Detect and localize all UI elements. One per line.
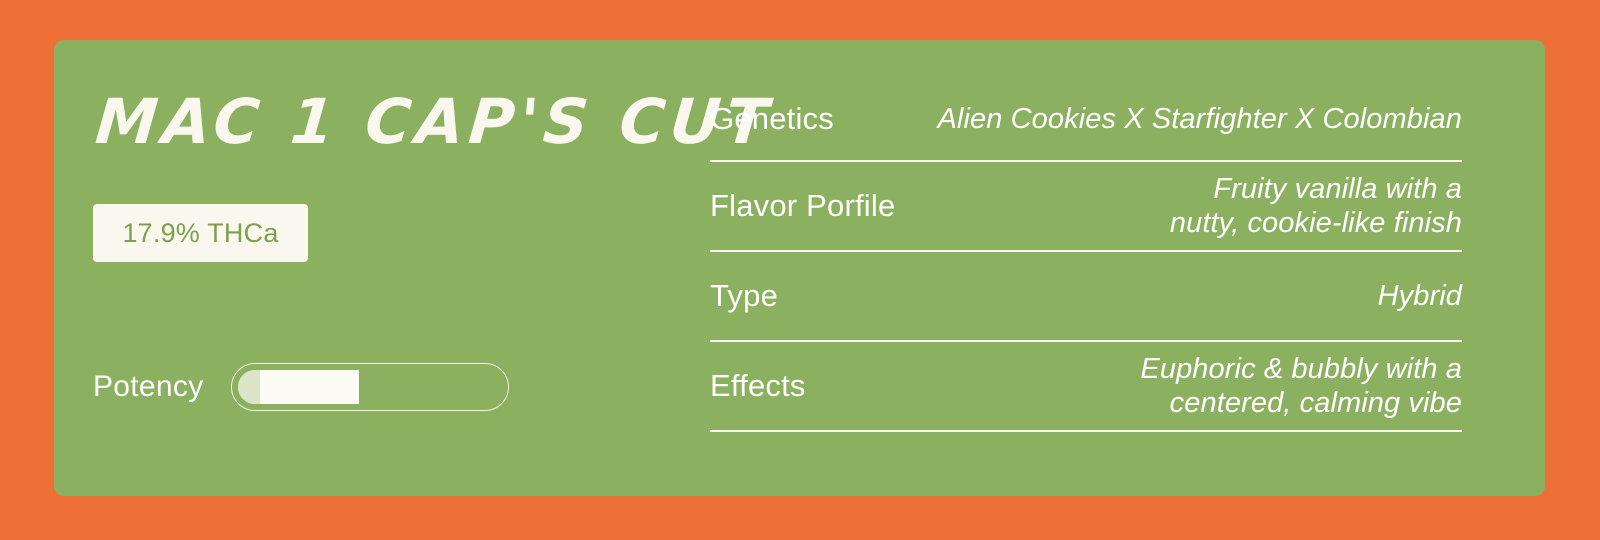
- spec-value-line: Euphoric & bubbly with a: [820, 352, 1462, 386]
- spec-row-type: Type Hybrid: [710, 252, 1462, 342]
- potency-meter[interactable]: [231, 363, 509, 411]
- spec-value-line: Fruity vanilla with a: [909, 172, 1462, 206]
- spec-label-genetics: Genetics: [710, 102, 848, 136]
- thca-badge-label: 17.9% THCa: [122, 220, 278, 247]
- spec-row-effects: Effects Euphoric & bubbly with a centere…: [710, 342, 1462, 432]
- strain-info-card: MAC 1 CAP'S CUT 17.9% THCa Potency Genet…: [54, 40, 1545, 496]
- spec-value-line: Hybrid: [792, 279, 1462, 313]
- spec-row-flavor-profile: Flavor Porfile Fruity vanilla with a nut…: [710, 162, 1462, 252]
- spec-value-line: Alien Cookies X Starfighter X Colombian: [848, 102, 1462, 136]
- potency-block: Potency: [93, 363, 509, 411]
- spec-value-flavor-profile: Fruity vanilla with a nutty, cookie-like…: [909, 172, 1462, 240]
- spec-label-effects: Effects: [710, 369, 820, 403]
- spec-value-effects: Euphoric & bubbly with a centered, calmi…: [820, 352, 1462, 420]
- page-canvas: MAC 1 CAP'S CUT 17.9% THCa Potency Genet…: [0, 0, 1600, 540]
- spec-value-genetics: Alien Cookies X Starfighter X Colombian: [848, 102, 1462, 136]
- spec-label-flavor-profile: Flavor Porfile: [710, 189, 909, 223]
- spec-row-genetics: Genetics Alien Cookies X Starfighter X C…: [710, 78, 1462, 162]
- card-left-column: MAC 1 CAP'S CUT 17.9% THCa Potency: [93, 40, 693, 496]
- thca-badge: 17.9% THCa: [93, 204, 308, 262]
- spec-value-type: Hybrid: [792, 279, 1462, 313]
- spec-value-line: nutty, cookie-like finish: [909, 206, 1462, 240]
- spec-label-type: Type: [710, 279, 792, 313]
- spec-value-line: centered, calming vibe: [820, 386, 1462, 420]
- spec-table: Genetics Alien Cookies X Starfighter X C…: [710, 78, 1462, 432]
- potency-label: Potency: [93, 372, 204, 402]
- potency-meter-fill: [238, 370, 359, 404]
- product-title: MAC 1 CAP'S CUT: [93, 88, 659, 156]
